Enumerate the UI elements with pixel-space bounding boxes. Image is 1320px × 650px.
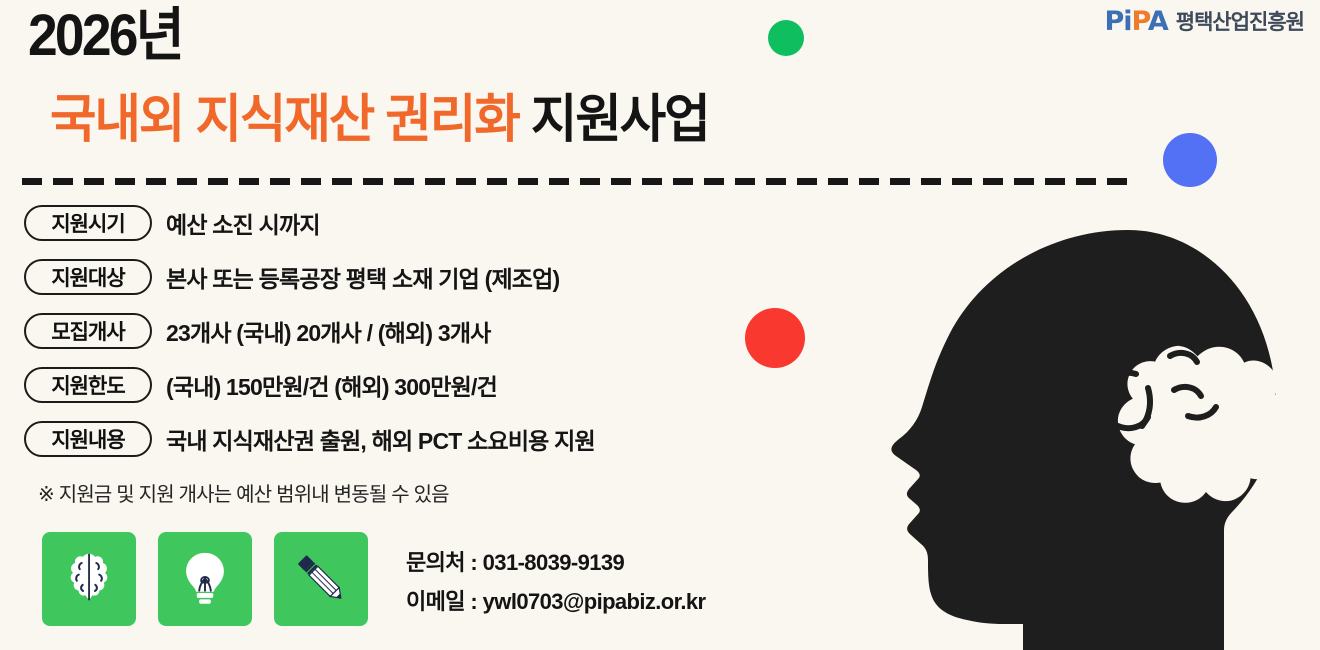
info-row-support-limit: 지원한도 (국내) 150만원/건 (해외) 300만원/건 xyxy=(24,366,784,404)
pipa-logo-mark: PiPA xyxy=(1104,8,1167,35)
info-value-support-period: 예산 소진 시까지 xyxy=(166,206,320,240)
info-label-support-limit: 지원한도 xyxy=(24,367,152,403)
organization-name: 평택산업진흥원 xyxy=(1176,6,1304,36)
info-label-eligibility: 지원대상 xyxy=(24,259,152,295)
organization-logo: PiPA 평택산업진흥원 xyxy=(1104,6,1304,36)
info-row-support-content: 지원내용 국내 지식재산권 출원, 해외 PCT 소요비용 지원 xyxy=(24,420,784,458)
logo-letter-p1: P xyxy=(1104,6,1123,37)
info-label-support-content: 지원내용 xyxy=(24,421,152,457)
icon-box-lightbulb xyxy=(158,532,252,626)
logo-letter-a: A xyxy=(1148,6,1168,37)
contact-block: 문의처 : 031-8039-9139 이메일 : ywl0703@pipabi… xyxy=(406,545,706,616)
info-value-support-limit: (국내) 150만원/건 (해외) 300만원/건 xyxy=(166,368,497,402)
page-title: 국내외 지식재산 권리화 지원사업 xyxy=(50,92,709,149)
logo-letter-p2: P xyxy=(1132,6,1148,37)
info-row-eligibility: 지원대상 본사 또는 등록공장 평택 소재 기업 (제조업) xyxy=(24,258,784,296)
icon-box-pencil xyxy=(274,532,368,626)
info-label-recruitment-count: 모집개사 xyxy=(24,313,152,349)
lightbulb-icon xyxy=(175,548,235,610)
info-value-support-content: 국내 지식재산권 출원, 해외 PCT 소요비용 지원 xyxy=(166,422,595,456)
title-highlight: 국내외 지식재산 권리화 xyxy=(50,91,519,149)
icon-row xyxy=(42,532,368,626)
title-rest: 지원사업 xyxy=(519,91,709,149)
info-note: ※ 지원금 및 지원 개사는 예산 범위내 변동될 수 있음 xyxy=(38,478,449,507)
info-list: 지원시기 예산 소진 시까지 지원대상 본사 또는 등록공장 평택 소재 기업 … xyxy=(24,204,784,474)
info-value-recruitment-count: 23개사 (국내) 20개사 / (해외) 3개사 xyxy=(166,314,491,348)
brain-icon xyxy=(58,548,120,610)
green-dot-decoration xyxy=(768,20,804,56)
info-value-eligibility: 본사 또는 등록공장 평택 소재 기업 (제조업) xyxy=(166,260,559,294)
poster-canvas: PiPA 평택산업진흥원 2026년 국내외 지식재산 권리화 지원사업 지원시… xyxy=(0,0,1320,650)
pencil-icon xyxy=(290,548,352,610)
title-year: 2026년 xyxy=(28,6,182,67)
logo-letter-i: i xyxy=(1123,6,1131,37)
info-row-recruitment-count: 모집개사 23개사 (국내) 20개사 / (해외) 3개사 xyxy=(24,312,784,350)
blue-dot-decoration xyxy=(1163,133,1217,187)
head-with-brain-silhouette xyxy=(878,228,1320,650)
info-label-support-period: 지원시기 xyxy=(24,205,152,241)
contact-phone: 문의처 : 031-8039-9139 xyxy=(406,545,706,577)
info-row-support-period: 지원시기 예산 소진 시까지 xyxy=(24,204,784,242)
dashed-divider xyxy=(22,178,1127,185)
contact-email: 이메일 : ywl0703@pipabiz.or.kr xyxy=(406,584,706,616)
icon-box-brain xyxy=(42,532,136,626)
